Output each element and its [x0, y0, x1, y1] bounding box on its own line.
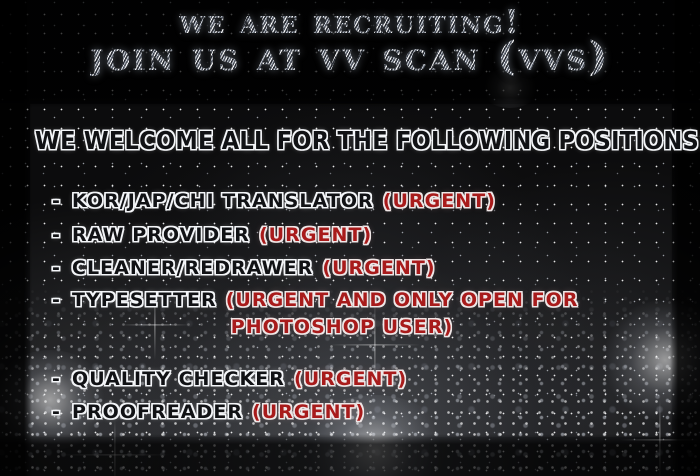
bullet-dash-icon: -: [52, 257, 72, 279]
position-title: QUALITY CHECKER: [72, 368, 285, 390]
list-item: - RAW PROVIDER(URGENT): [52, 224, 672, 246]
position-title: TYPESETTER: [72, 289, 217, 311]
position-title: KOR/JAP/CHI TRANSLATOR: [72, 190, 374, 212]
position-note: (URGENT): [252, 401, 365, 423]
position-title: CLEANER/REDRAWER: [72, 257, 313, 279]
subheading: WE WELCOME ALL FOR THE FOLLOWING POSITIO…: [35, 126, 665, 155]
list-item: - KOR/JAP/CHI TRANSLATOR(URGENT): [52, 190, 672, 212]
banner-header: We are recruiting! Join us at VV Scan (V…: [0, 0, 700, 104]
position-note-continued: PHOTOSHOP USER): [52, 316, 632, 338]
list-item: - PROOFREADER(URGENT): [52, 401, 672, 423]
bullet-dash-icon: -: [52, 368, 72, 390]
headline-secondary: Join us at VV Scan (VVS): [90, 37, 609, 78]
position-note: (URGENT): [294, 368, 407, 390]
bullet-dash-icon: -: [52, 190, 72, 212]
position-title: RAW PROVIDER: [72, 224, 250, 246]
bullet-dash-icon: -: [52, 224, 72, 246]
position-note: (URGENT): [383, 190, 496, 212]
list-item: - TYPESETTER(URGENT AND ONLY OPEN FOR PH…: [52, 289, 672, 338]
position-note: (URGENT AND ONLY OPEN FOR: [226, 289, 579, 311]
list-item: - CLEANER/REDRAWER(URGENT): [52, 257, 672, 279]
list-item: - QUALITY CHECKER(URGENT): [52, 368, 672, 390]
position-note: (URGENT): [322, 257, 435, 279]
position-note: (URGENT): [259, 224, 372, 246]
bullet-dash-icon: -: [52, 401, 72, 423]
position-title: PROOFREADER: [72, 401, 243, 423]
positions-list: - KOR/JAP/CHI TRANSLATOR(URGENT) - RAW P…: [52, 190, 672, 424]
bullet-dash-icon: -: [52, 289, 72, 311]
recruitment-banner: We are recruiting! Join us at VV Scan (V…: [0, 0, 700, 476]
